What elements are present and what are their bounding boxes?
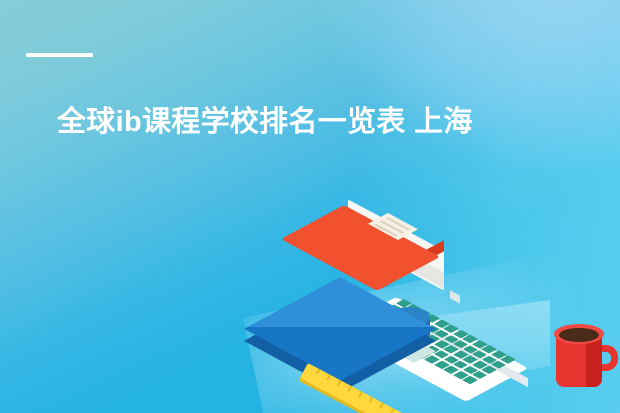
promo-banner: 全球ib课程学校排名一览表 上海: [0, 0, 620, 413]
page-title: 全球ib课程学校排名一览表 上海: [57, 104, 587, 140]
profile-avatar-icon: [437, 182, 497, 214]
coffee-liquid-icon: [559, 328, 599, 342]
study-desk-illustration: [300, 185, 620, 413]
content-panel-icon: [455, 192, 547, 242]
accent-rule: [26, 53, 93, 57]
window-dots-icon: [473, 201, 495, 213]
laptop-hinge-icon: [450, 290, 460, 303]
book-cover-icon: [281, 205, 440, 291]
